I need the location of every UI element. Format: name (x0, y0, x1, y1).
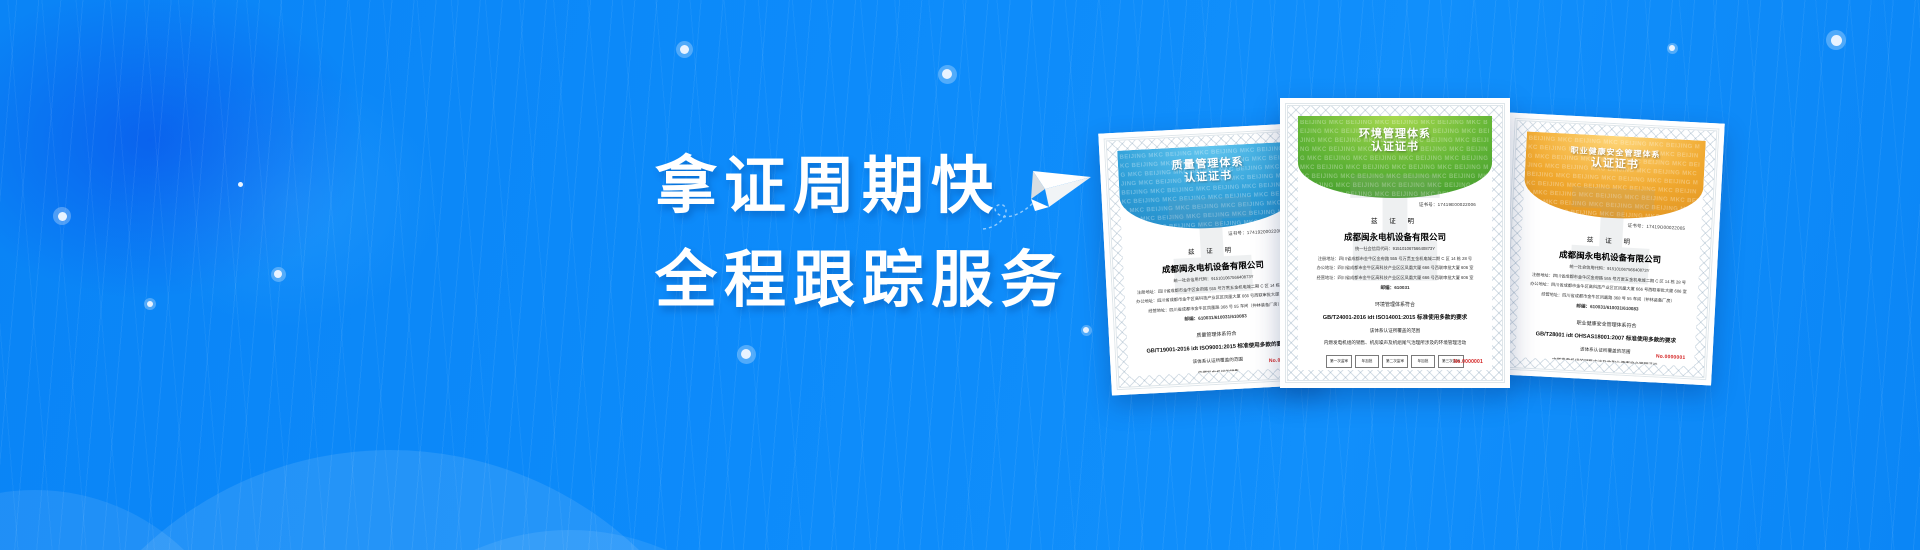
certificate-system-name: 环境管理体系符合 (1304, 301, 1486, 308)
certificate-content: 证书号：17419O00022005 兹 证 明 成都闽永电机设备有限公司 统一… (1515, 217, 1701, 366)
certificate-company-name: 成都闽永电机设备有限公司 (1304, 231, 1486, 243)
headline-block: 拿证周期快 全程跟踪服务 (655, 140, 1175, 328)
audit-box: 年加批 (1411, 355, 1435, 368)
decor-circle-left (0, 490, 250, 550)
dot-2 (53, 207, 71, 225)
dot-1 (238, 182, 243, 187)
certificate-title: 环境管理体系 认证证书 (1298, 116, 1492, 155)
certificate-postcode: 邮编：610031 (1304, 284, 1486, 292)
environmental-management-certificate[interactable]: BEIJING MKC BEIJING MKC BEIJING MKC BEIJ… (1280, 98, 1510, 388)
certificate-frame: BEIJING MKC BEIJING MKC BEIJING MKC BEIJ… (1285, 103, 1505, 383)
certificate-frame: BEIJING MKC BEIJING MKC BEIJING MKC BEIJ… (1502, 118, 1720, 380)
certificate-section-title: 兹 证 明 (1304, 215, 1486, 225)
certificate-title-line-2: 认证证书 (1298, 141, 1492, 154)
audit-box: 第二次监审 (1382, 355, 1408, 368)
audit-box: 年加批 (1355, 355, 1379, 368)
certificate-number: 证书号：17419E00022006 (1304, 202, 1486, 208)
certificates-group: BEIJING MKC BEIJING MKC BEIJING MKC BEIJ… (1105, 80, 1805, 410)
dot-10 (1826, 30, 1846, 50)
certificate-scope-text: 内燃发电机组的销售、机房噪声及机组尾气治理所涉及的环境管理活动 (1304, 340, 1486, 346)
headline-line-1: 拿证周期快 (655, 140, 1175, 234)
decor-circle-center (30, 450, 750, 550)
certificate-content: 证书号：17419E00022006 兹 证 明 成都闽永电机设备有限公司 统一… (1298, 202, 1492, 370)
certificate-address-operating: 经营地址：四川省成都市金牛区高科技产业区区凤凰大厦 666 号西联审批大厦 60… (1304, 275, 1486, 282)
certificate-credit-code: 统一社会信用代码：91510106756640873Y (1304, 246, 1486, 253)
certificate-body: BEIJING MKC BEIJING MKC BEIJING MKC BEIJ… (1298, 116, 1492, 370)
dot-6 (938, 65, 957, 84)
certificate-title-line-1: 环境管理体系 (1298, 128, 1492, 141)
dot-5 (676, 41, 693, 58)
paper-plane-icon (975, 155, 1095, 235)
certificate-address-office: 办公地址：四川省成都市金牛区高科技产业区区凤凰大厦 666 号西联审批大厦 60… (1304, 265, 1486, 272)
audit-box: 第一次监审 (1326, 355, 1352, 368)
certificate-section-title: 兹 证 明 (1527, 231, 1694, 250)
certificate-scope-title: 该体系认证所覆盖的范围 (1304, 328, 1486, 334)
certificate-standard: GB/T19001-2016 idt ISO9001:2015 标准使用多款的要… (1133, 338, 1300, 355)
certificate-address-registered: 注册地址：四川省成都市金牛区金府路 555 号万贯五金机电城二期 C 区 14 … (1304, 256, 1486, 263)
certificate-standard: GB/T24001-2016 idt ISO14001:2015 标准使用多款的… (1304, 313, 1486, 321)
decor-circle-right (330, 530, 810, 550)
headline-line-2: 全程跟踪服务 (655, 234, 1175, 328)
promo-banner: 拿证周期快 全程跟踪服务 BEIJING MKC BEIJING MKC BEI… (0, 0, 1920, 550)
dot-3 (144, 298, 156, 310)
dot-7 (737, 345, 756, 364)
certificate-section-title: 兹 证 明 (1128, 241, 1295, 260)
dot-4 (271, 267, 286, 282)
certificate-serial-number: No.0000001 (1453, 359, 1483, 365)
certificate-standard: GB/T28001 idt OHSAS18001:2007 标准使用多款的要求 (1522, 328, 1689, 345)
dot-9 (1667, 43, 1678, 54)
certificate-body: BEIJING MKC BEIJING MKC BEIJING MKC BEIJ… (1515, 131, 1706, 366)
occupational-health-safety-certificate[interactable]: BEIJING MKC BEIJING MKC BEIJING MKC BEIJ… (1496, 113, 1724, 386)
